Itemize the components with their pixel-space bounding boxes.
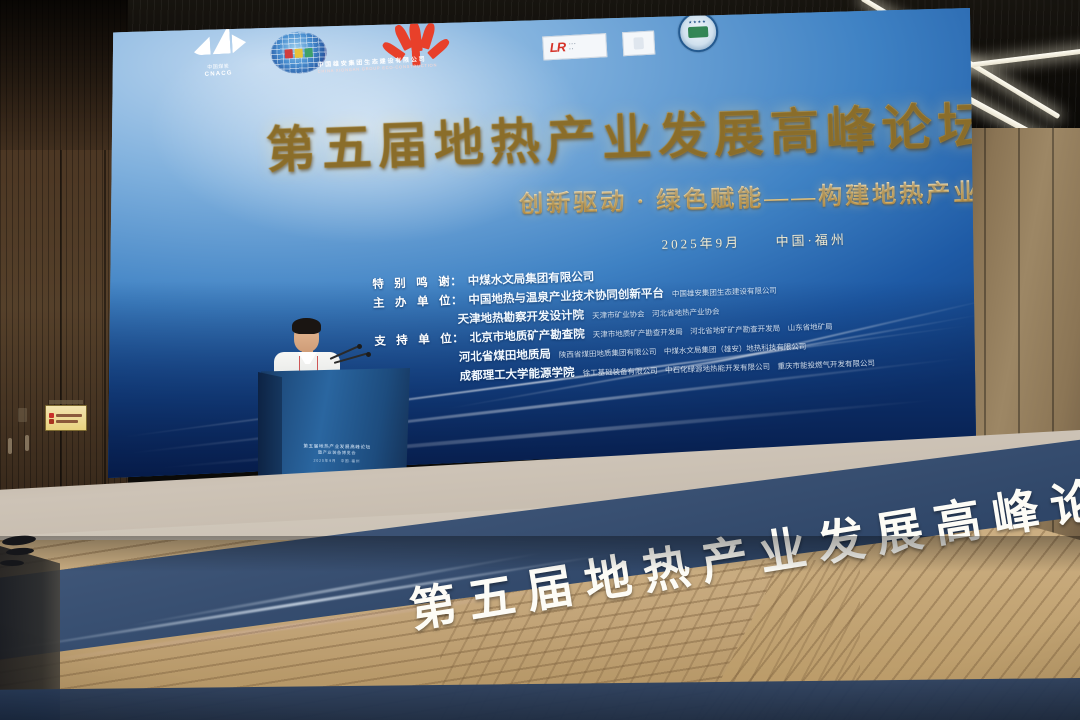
microphone-head-icon [366,352,371,357]
lr-logo-mark: LR [549,39,565,55]
event-location: 中国·福州 [775,232,847,249]
cnacg-cn-text: 中国煤炭 [207,64,229,71]
event-main-title: 第五届地热产业发展高峰论坛暨产业装备博览会 [265,85,997,182]
cnacg-logo: 中国煤炭 CNACG [187,23,248,80]
blank-logo-mark [633,37,644,50]
screen-content: 中国煤炭 CNACG [108,0,1000,477]
floor-cable [0,560,24,566]
door-handle[interactable] [8,438,12,454]
speaker-hair [292,318,321,334]
door-seam [104,150,106,530]
event-date: 2025年9月 [661,235,741,252]
conference-stage-photo: 中国煤炭 CNACG [0,0,1080,720]
event-date-location: 2025年9月 中国·福州 [661,229,847,253]
safety-warning-sign [45,405,87,431]
seal-logo: ★★★★ [677,11,719,53]
lr-logo-sub: ▪ ▪ ▪▪ ▪ [569,42,576,52]
led-screen: 中国煤炭 CNACG [108,8,976,478]
organization-credits: 特别鸣谢 ： 中煤水文局集团有限公司 主办单位 ： 中国地热与温泉产业技术协同创… [372,254,1016,390]
sign-rail [49,400,83,404]
cnacg-en-text: CNACG [205,70,233,78]
petal-icon: 中国雄安集团生态建设有限公司 CHINA XIONGAN GROUP ECO-C… [367,18,469,69]
door-handle[interactable] [25,435,29,451]
microphone-head-icon [357,344,362,349]
org-label: 支持单位 [374,330,453,349]
podium-branding: 第五届地热产业发展高峰论坛 暨产业装备博览会 2025年9月 中国·福州 [288,442,386,465]
blank-logo [622,30,655,56]
left-wall-shadow [0,0,128,150]
stage-shadow [0,536,1080,572]
seal-inner-mark [688,26,709,38]
org-label: 主办单位 [373,292,452,311]
org-label: 特别鸣谢 [372,273,451,292]
door-plate [18,408,27,422]
lr-logo: LR ▪ ▪ ▪▪ ▪ [542,33,607,60]
seal-stars-icon: ★★★★ [688,18,707,24]
cnacg-logo-label: 中国煤炭 CNACG [204,64,233,78]
petal-logo: 中国雄安集团生态建设有限公司 CHINA XIONGAN GROUP ECO-C… [367,18,469,69]
org-value: 中煤水文局集团有限公司 [467,268,594,288]
petal-logo-label: 中国雄安集团生态建设有限公司 CHINA XIONGAN GROUP ECO-C… [317,51,468,73]
